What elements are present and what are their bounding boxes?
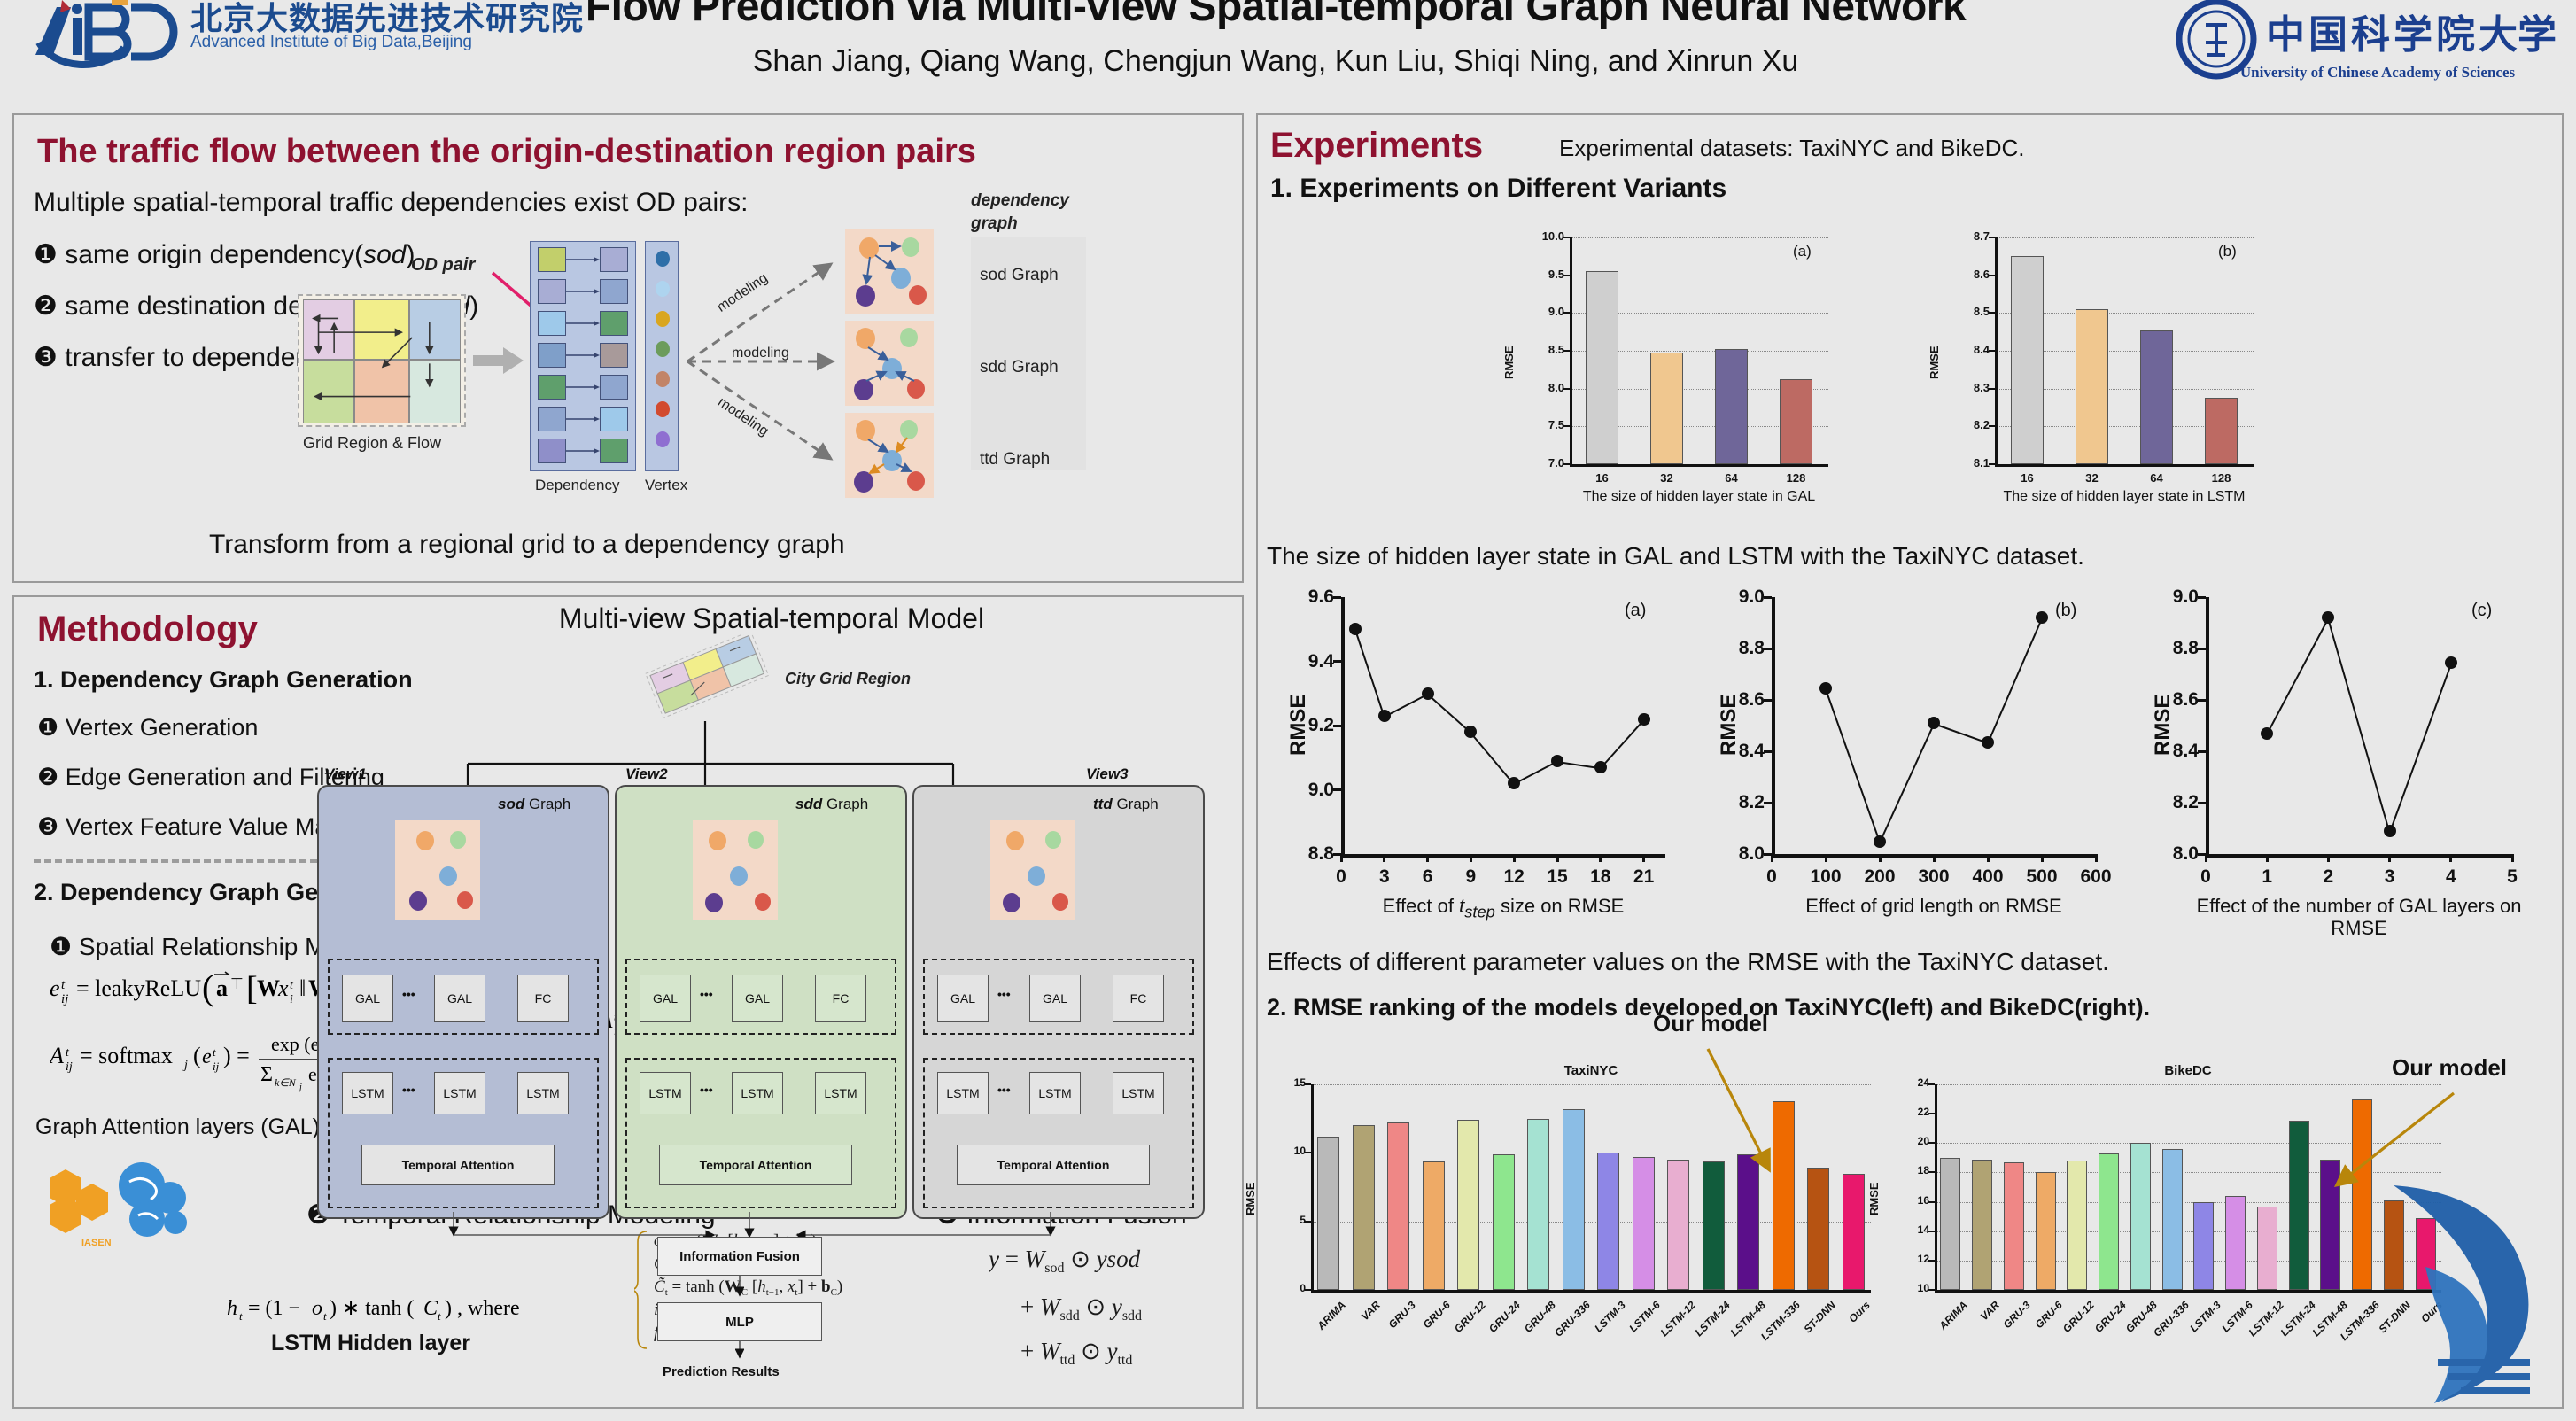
y-tick [1305, 1289, 1311, 1291]
x-tick-label: 1 [2242, 866, 2292, 888]
x-axis [1311, 1290, 1871, 1293]
y-axis-label: RMSE [1928, 346, 1941, 379]
y-tick [1928, 1201, 1935, 1203]
panel-letter: (b) [2218, 243, 2237, 260]
y-tick [1928, 1113, 1935, 1114]
x-tick [2327, 854, 2330, 862]
city-grid-region-icon [643, 634, 776, 732]
svg-text:) =: ) = [223, 1043, 250, 1068]
line-segment [1987, 618, 2043, 743]
svg-text:⊤: ⊤ [230, 975, 244, 992]
od-diagram: Grid Region & Flow OD pair [298, 197, 1228, 516]
svg-text:j: j [298, 1083, 302, 1092]
y-tick-label: 5 [1260, 1214, 1306, 1226]
grid-region-label: Grid Region & Flow [303, 434, 441, 453]
bar [1780, 379, 1812, 464]
svg-text:院: 院 [2436, 13, 2475, 57]
panel-letter: (a) [1625, 601, 1646, 621]
grid-region [298, 294, 466, 427]
y-tick [1928, 1142, 1935, 1144]
bar [1972, 1160, 1992, 1290]
y-tick [1333, 660, 1341, 663]
y-tick [1764, 648, 1772, 650]
x-tick-label: 12 [1489, 866, 1539, 888]
bar [1597, 1153, 1619, 1290]
view3-lstm-block: LSTM ••• LSTM LSTM Temporal Attention [923, 1058, 1194, 1208]
bar [2099, 1153, 2119, 1290]
y-tick [2198, 648, 2206, 650]
y-tick [1928, 1083, 1935, 1085]
svg-text:A: A [50, 1043, 64, 1068]
fc-unit: FC [517, 975, 569, 1022]
bar [2140, 330, 2173, 464]
y-axis-label: RMSE [1286, 695, 1311, 756]
svg-text:+ Wttd ⊙ yttd: + Wttd ⊙ yttd [1020, 1338, 1132, 1366]
y-tick [1928, 1289, 1935, 1291]
data-point [2261, 727, 2273, 740]
sdd-graph-label: sdd Graph [795, 796, 868, 813]
ttd-graph-name: ttd Graph [980, 450, 1050, 470]
x-tick [1825, 854, 1827, 862]
experiments-caption-1: The size of hidden layer state in GAL an… [1267, 542, 2084, 571]
x-tick-label: 16 [1576, 471, 1629, 485]
x-tick [1340, 854, 1343, 862]
x-tick [1642, 854, 1645, 862]
view2-graph-thumb [693, 820, 778, 920]
y-tick [1333, 725, 1341, 727]
y-tick [1563, 425, 1570, 427]
prediction-results-label: Prediction Results [663, 1364, 780, 1379]
panel-letter: (a) [1793, 243, 1812, 260]
bar [1843, 1174, 1865, 1290]
line-segment [2266, 618, 2329, 734]
view3-graph-thumb [990, 820, 1075, 920]
x-axis [2206, 854, 2512, 858]
experiments-heading-1: 1. Experiments on Different Variants [1270, 174, 1726, 204]
y-tick [1928, 1260, 1935, 1262]
line-segment [1934, 723, 1989, 744]
y-tick-label: 8.2 [2153, 792, 2199, 813]
gridline [1570, 237, 1828, 238]
y-tick-label: 8.1 [1944, 456, 1990, 470]
y-tick-label: 8.5 [1518, 343, 1564, 356]
x-tick-label: 0 [1747, 866, 1796, 888]
y-axis [1341, 597, 1345, 854]
x-tick-label: 100 [1801, 866, 1851, 888]
svg-text:ij: ij [61, 992, 68, 1006]
lstm-unit: LSTM [640, 1072, 691, 1114]
y-tick-label: 8.0 [2153, 843, 2199, 865]
bar [1940, 1158, 1960, 1290]
ellipsis: ••• [402, 1083, 415, 1097]
lstm-unit: LSTM [732, 1072, 783, 1114]
y-tick [1563, 312, 1570, 314]
bar [1423, 1161, 1445, 1290]
data-point [1508, 777, 1520, 789]
methodology-item: ❶ Vertex Generation [37, 714, 258, 742]
x-tick-label: 32 [2066, 471, 2119, 485]
gal-unit: GAL [937, 975, 989, 1022]
data-point [1551, 755, 1563, 767]
bar [1633, 1157, 1655, 1290]
y-axis [1772, 597, 1775, 854]
y-tick [1563, 275, 1570, 276]
gal-unit: GAL [1029, 975, 1081, 1022]
bar [1317, 1137, 1339, 1290]
x-tick [1987, 854, 1990, 862]
panel-letter: (b) [2055, 601, 2076, 621]
chart-tstep: 8.89.09.29.49.6036912151821RMSEEffect of… [1270, 576, 1687, 939]
mlp-to-results-arrow-icon [735, 1341, 744, 1364]
y-tick [1563, 237, 1570, 238]
y-tick-label: 24 [1883, 1076, 1929, 1089]
bar [1563, 1109, 1585, 1290]
view2-label: View2 [625, 765, 668, 783]
data-point [1594, 761, 1607, 773]
aibd-logo-en: Advanced Institute of Big Data,Beijing [190, 33, 472, 52]
bar [1387, 1122, 1409, 1290]
iasen-logo-icon: IASEN [35, 1146, 239, 1253]
sod-graph-label: sod Graph [498, 796, 570, 813]
svg-text:j: j [182, 1059, 188, 1072]
y-tick-label: 18 [1883, 1164, 1929, 1176]
view3-gal-block: GAL ••• GAL FC [923, 959, 1194, 1035]
fc-unit: FC [815, 975, 866, 1022]
bar [2162, 1149, 2183, 1290]
fusion-equation: y = Wsod ⊙ ysod + Wsdd ⊙ ysdd + Wttd ⊙ y… [989, 1242, 1254, 1382]
x-tick [1383, 854, 1385, 862]
x-axis-label: The size of hidden layer state in GAL [1552, 489, 1846, 505]
y-tick-label: 8.0 [1518, 381, 1564, 394]
lstm-unit: LSTM [937, 1072, 989, 1114]
x-tick-label: 400 [1963, 866, 2013, 888]
bar [2193, 1202, 2214, 1290]
temporal-attention-block: Temporal Attention [957, 1145, 1150, 1185]
svg-text:学: 学 [2518, 13, 2557, 57]
line-segment [1825, 689, 1881, 843]
x-tick [2266, 854, 2269, 862]
y-tick-label: 22 [1883, 1106, 1929, 1118]
chart-title: BikeDC [1935, 1063, 2441, 1078]
y-tick-label: 8.7 [1944, 229, 1990, 243]
lstm-unit: LSTM [342, 1072, 393, 1114]
line-segment [2389, 664, 2452, 833]
data-point [1928, 717, 1940, 729]
svg-text:+ Wsdd ⊙ ysdd: + Wsdd ⊙ ysdd [1020, 1293, 1142, 1324]
data-point [2036, 611, 2048, 624]
od-bullet: ❷ [34, 291, 58, 321]
svg-text:C: C [423, 1297, 438, 1320]
gal-unit: GAL [434, 975, 485, 1022]
svg-text:W: W [257, 975, 280, 1001]
aibd-logo-icon [27, 0, 186, 71]
bar [1586, 271, 1618, 464]
svg-text:e: e [202, 1045, 212, 1068]
y-axis [2206, 597, 2209, 854]
dependency-label: Dependency [535, 477, 619, 494]
x-tick [1513, 854, 1516, 862]
sdd-graph-thumb [845, 321, 934, 406]
dependency-column [530, 241, 636, 471]
chart-gridlen: 8.08.28.48.68.89.00100200300400500600RMS… [1701, 576, 2117, 939]
svg-text:t: t [66, 1046, 70, 1060]
y-tick-label: 16 [1883, 1194, 1929, 1207]
x-tick-label: 21 [1619, 866, 1669, 888]
y-tick [1989, 237, 1995, 238]
ellipsis: ••• [700, 987, 713, 1001]
methodology-title: Methodology [37, 610, 258, 649]
y-axis-label: RMSE [1244, 1182, 1257, 1215]
y-tick-label: 8.2 [1944, 418, 1990, 431]
y-tick [1928, 1231, 1935, 1232]
y-tick [1305, 1152, 1311, 1153]
y-tick [1764, 596, 1772, 599]
bar [2011, 256, 2044, 464]
svg-text:= leakyReLU: = leakyReLU [76, 975, 201, 1001]
svg-text:科: 科 [2351, 13, 2390, 57]
bar [2205, 398, 2238, 464]
x-axis-label: Effect of grid length on RMSE [1745, 895, 2122, 917]
bar [2076, 309, 2108, 464]
x-tick [2511, 854, 2514, 862]
bar [1353, 1125, 1375, 1290]
y-tick-label: 8.2 [1719, 792, 1765, 813]
our-model-pointer-left-icon [1701, 1045, 1816, 1192]
bar [2130, 1143, 2151, 1290]
svg-text:(: ( [202, 967, 213, 1007]
city-grid-label: City Grid Region [785, 670, 911, 688]
sod-graph-thumb [845, 229, 934, 314]
svg-text:学: 学 [2394, 13, 2432, 57]
x-tick [2041, 854, 2044, 862]
x-axis [1995, 464, 2254, 467]
modeling-label: modeling [732, 346, 789, 361]
od-pair-label: OD pair [411, 255, 475, 276]
y-tick-label: 9.0 [1518, 305, 1564, 318]
svg-text:) ∗ tanh (: ) ∗ tanh ( [330, 1297, 414, 1320]
svg-text:= softmax: = softmax [80, 1043, 173, 1068]
svg-text:国: 国 [2308, 13, 2347, 57]
y-tick-label: 9.6 [1288, 586, 1334, 608]
x-tick-label: 200 [1855, 866, 1905, 888]
bar [1667, 1160, 1689, 1290]
od-bullet: ❸ [34, 343, 58, 372]
data-point [1378, 710, 1391, 722]
data-point [2445, 656, 2457, 669]
ellipsis: ••• [997, 1083, 1011, 1097]
fusion-to-mlp-arrow-icon [735, 1276, 744, 1302]
y-tick [2198, 802, 2206, 804]
x-tick-label: 300 [1909, 866, 1959, 888]
gal-unit: GAL [732, 975, 783, 1022]
aibd-logo: 北京大数据先进技术研究院 Advanced Institute of Big D… [27, 0, 292, 90]
svg-text:‖: ‖ [299, 975, 306, 1001]
poster-header: 北京大数据先进技术研究院 Advanced Institute of Big D… [0, 0, 2576, 106]
vertex-column [645, 241, 679, 471]
x-tick-label: 16 [2001, 471, 2054, 485]
lstm-caption: LSTM Hidden layer [271, 1331, 470, 1356]
data-point [1422, 687, 1434, 700]
x-tick-label: 15 [1532, 866, 1582, 888]
y-tick-label: 0 [1260, 1282, 1306, 1294]
y-axis-label: RMSE [1867, 1182, 1881, 1215]
svg-text:ij: ij [213, 1060, 220, 1073]
y-tick-label: 9.5 [1518, 268, 1564, 281]
ttd-graph-em: ttd [1093, 796, 1113, 812]
temporal-attention-block: Temporal Attention [659, 1145, 852, 1185]
view1-gal-block: GAL ••• GAL FC [328, 959, 599, 1035]
y-tick [1563, 350, 1570, 352]
y-tick [2198, 750, 2206, 753]
y-tick-label: 8.0 [1719, 843, 1765, 865]
fusion-equation-svg: y = Wsod ⊙ ysod + Wsdd ⊙ ysdd + Wttd ⊙ y… [989, 1242, 1254, 1366]
y-tick-label: 8.6 [1944, 268, 1990, 281]
sod-graph-name: sod Graph [980, 266, 1059, 285]
x-tick [2449, 854, 2452, 862]
x-tick-label: 64 [1705, 471, 1758, 485]
od-panel-title: The traffic flow between the origin-dest… [37, 133, 976, 171]
y-tick [1333, 596, 1341, 599]
experiments-caption-2: Effects of different parameter values on… [1267, 948, 2109, 976]
mlp-block: MLP [657, 1302, 822, 1341]
line-segment [2327, 618, 2390, 832]
x-tick-label: 18 [1576, 866, 1626, 888]
x-tick-label: 128 [2195, 471, 2248, 485]
chart-gal-layers: 8.08.28.48.68.89.0012345RMSEEffect of th… [2135, 576, 2533, 939]
svg-text:中: 中 [2266, 13, 2305, 57]
y-tick [1989, 312, 1995, 314]
bar [1527, 1119, 1549, 1290]
fc-unit: FC [1113, 975, 1164, 1022]
x-tick-label: 32 [1641, 471, 1694, 485]
ellipsis: ••• [402, 987, 415, 1001]
y-tick-label: 10.0 [1518, 229, 1564, 243]
x-axis-label: Effect of tstep size on RMSE [1315, 895, 1692, 920]
experiments-title: Experiments [1270, 126, 1483, 166]
x-tick-label: 2 [2303, 866, 2353, 888]
y-tick [1305, 1083, 1311, 1085]
lstm-unit: LSTM [434, 1072, 485, 1114]
x-tick [2205, 854, 2207, 862]
svg-text:IASEN: IASEN [81, 1238, 112, 1248]
svg-text:= (1 −: = (1 − [248, 1297, 300, 1320]
gal-caption: Graph Attention layers (GAL) [35, 1114, 320, 1140]
sdd-graph-name: sdd Graph [980, 358, 1059, 377]
experiments-datasets: Experimental datasets: TaxiNYC and BikeD… [1559, 135, 2025, 162]
y-tick [1989, 275, 1995, 276]
decorative-swoosh-icon [2270, 1150, 2562, 1407]
data-point [1349, 623, 1362, 635]
bar [2067, 1161, 2087, 1290]
x-axis-label: Effect of the number of GAL layers on RM… [2179, 895, 2539, 940]
bar [2004, 1162, 2024, 1290]
y-axis-label: RMSE [2151, 695, 2176, 756]
bar [2036, 1172, 2056, 1290]
view3-label: View3 [1086, 765, 1129, 783]
view1-graph-thumb [395, 820, 480, 920]
view1-lstm-block: LSTM ••• LSTM LSTM Temporal Attention [328, 1058, 599, 1208]
svg-text:Σ: Σ [260, 1063, 273, 1086]
svg-text:ij: ij [66, 1060, 73, 1074]
gridline [1995, 237, 2254, 238]
chart-variants-lstm: 8.18.28.38.48.58.68.7163264128RMSEThe si… [1940, 213, 2268, 514]
y-tick [1764, 699, 1772, 702]
svg-text:t: t [290, 979, 294, 992]
data-point [2322, 611, 2334, 624]
information-fusion-block: Information Fusion [657, 1237, 822, 1276]
line-segment [1354, 630, 1385, 717]
x-tick [1426, 854, 1429, 862]
ttd-graph-thumb [845, 413, 934, 498]
x-tick-label: 600 [2071, 866, 2121, 888]
svg-text:大: 大 [2479, 13, 2518, 57]
grid-flow-arrows-icon [299, 296, 464, 426]
x-tick-label: 6 [1403, 866, 1453, 888]
y-tick-label: 9.0 [2153, 586, 2199, 608]
y-tick-label: 15 [1260, 1076, 1306, 1089]
sod-graph-em: sod [498, 796, 524, 812]
ucas-logo-sub: University of Chinese Academy of Science… [2200, 64, 2555, 82]
x-tick-label: 5 [2487, 866, 2537, 888]
gal-unit: GAL [342, 975, 393, 1022]
x-tick [1771, 854, 1773, 862]
svg-text:t: t [61, 978, 66, 992]
bar [1493, 1154, 1515, 1290]
x-tick-label: 64 [2130, 471, 2184, 485]
y-tick [1333, 788, 1341, 791]
y-tick [1563, 388, 1570, 390]
y-tick [1764, 750, 1772, 753]
line-segment [1879, 724, 1935, 843]
y-tick-label: 10 [1883, 1282, 1929, 1294]
x-tick [1470, 854, 1472, 862]
ellipsis: ••• [997, 987, 1011, 1001]
line-segment [1600, 719, 1644, 769]
y-tick-label: 8.4 [1944, 343, 1990, 356]
svg-text:C̃t = tanh (WC [ht−1, xt] + bC: C̃t = tanh (WC [ht−1, xt] + bC) [654, 1277, 842, 1298]
y-tick-label: 8.8 [2153, 638, 2199, 659]
lstm-hidden-equation-svg: h t = (1 − o t ) ∗ tanh ( C t ) , where [227, 1290, 608, 1325]
data-point [1638, 713, 1650, 726]
svg-text:x: x [277, 975, 289, 1001]
y-tick-label: 12 [1883, 1253, 1929, 1265]
y-tick-label: 8.8 [1288, 843, 1334, 865]
view1-label: View1 [324, 765, 367, 783]
dep-graph-label-line2: graph [971, 214, 1018, 234]
od-bullet: ❶ [34, 240, 58, 269]
poster-title: Flow Prediction via Multi-view Spatial-t… [549, 0, 2002, 31]
chart-variants-gal: 7.07.58.08.59.09.510.0163264128RMSEThe s… [1515, 213, 1843, 514]
y-tick-label: 8.8 [1719, 638, 1765, 659]
lstm-unit: LSTM [517, 1072, 569, 1114]
x-tick-label: 3 [2365, 866, 2415, 888]
dep-graph-label-line1: dependency [971, 191, 1069, 211]
panel-letter: (c) [2471, 601, 2492, 621]
svg-text:i: i [290, 993, 293, 1006]
y-tick [1764, 802, 1772, 804]
sdd-graph-em: sdd [795, 796, 822, 812]
svg-text:t: t [438, 1309, 441, 1323]
bar [1715, 349, 1748, 464]
y-tick-label: 20 [1883, 1135, 1929, 1147]
x-axis [1570, 464, 1828, 467]
y-tick [1989, 388, 1995, 390]
y-tick [2198, 699, 2206, 702]
y-tick [1305, 1221, 1311, 1223]
svg-text:) , where: ) , where [445, 1297, 520, 1320]
gridline [1935, 1084, 2441, 1085]
x-axis [1341, 854, 1665, 858]
